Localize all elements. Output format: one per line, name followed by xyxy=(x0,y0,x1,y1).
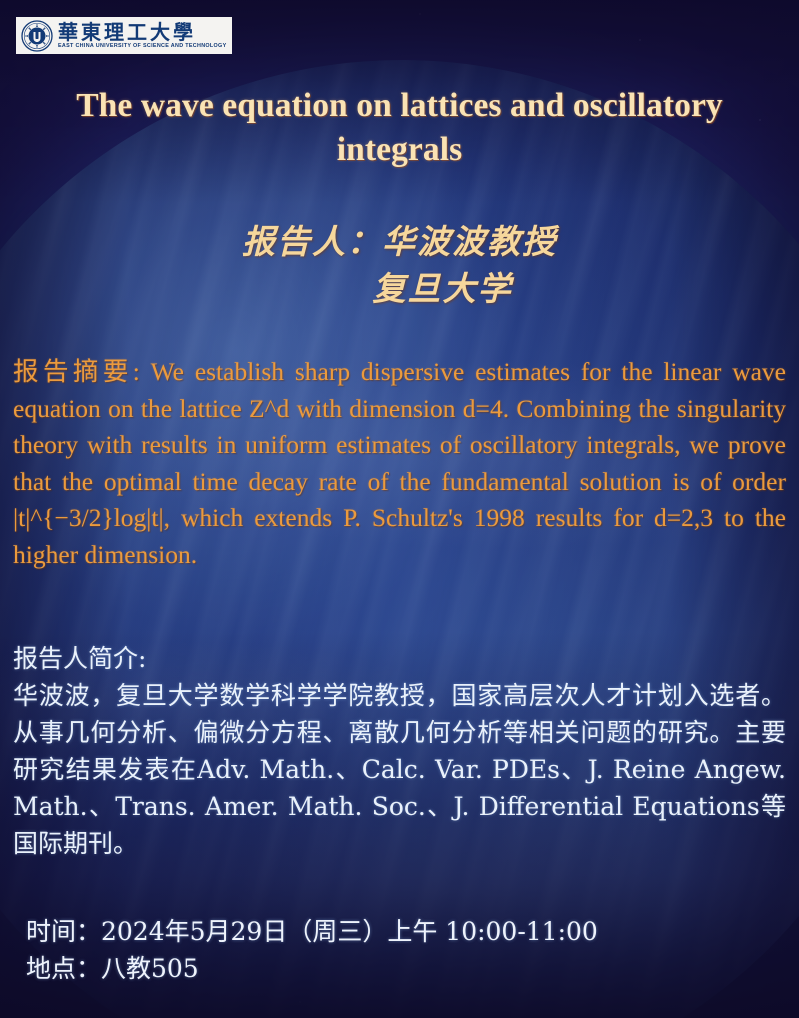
event-time-row: 时间：2024年5月29日（周三）上午 10:00-11:00 xyxy=(26,913,766,950)
abstract-section: 报告摘要: We establish sharp dispersive esti… xyxy=(13,354,786,573)
university-seal-icon xyxy=(21,20,53,52)
bio-label: 报告人简介: xyxy=(13,640,786,677)
abstract-body: We establish sharp dispersive estimates … xyxy=(13,357,786,569)
logistics-section: 时间：2024年5月29日（周三）上午 10:00-11:00 地点：八教505 xyxy=(26,913,766,987)
speaker-name-line: 报告人：华波波教授 xyxy=(0,218,799,265)
poster-content: 華東理工大學 EAST CHINA UNIVERSITY OF SCIENCE … xyxy=(0,0,799,1018)
event-place-row: 地点：八教505 xyxy=(26,950,766,987)
seminar-poster: 華東理工大學 EAST CHINA UNIVERSITY OF SCIENCE … xyxy=(0,0,799,1018)
speaker-affiliation-line: 复旦大学 xyxy=(0,265,799,312)
university-name-cn: 華東理工大學 xyxy=(58,22,227,42)
abstract-label: 报告摘要: xyxy=(13,357,140,386)
talk-title: The wave equation on lattices and oscill… xyxy=(28,84,771,172)
bio-body: 华波波，复旦大学数学科学学院教授，国家高层次人才计划入选者。从事几何分析、偏微分… xyxy=(13,677,786,862)
university-name-block: 華東理工大學 EAST CHINA UNIVERSITY OF SCIENCE … xyxy=(58,22,227,49)
university-logo: 華東理工大學 EAST CHINA UNIVERSITY OF SCIENCE … xyxy=(16,17,232,54)
university-name-en: EAST CHINA UNIVERSITY OF SCIENCE AND TEC… xyxy=(58,44,227,49)
bio-section: 报告人简介: 华波波，复旦大学数学科学学院教授，国家高层次人才计划入选者。从事几… xyxy=(13,640,786,862)
speaker-block: 报告人：华波波教授 复旦大学 xyxy=(0,218,799,312)
